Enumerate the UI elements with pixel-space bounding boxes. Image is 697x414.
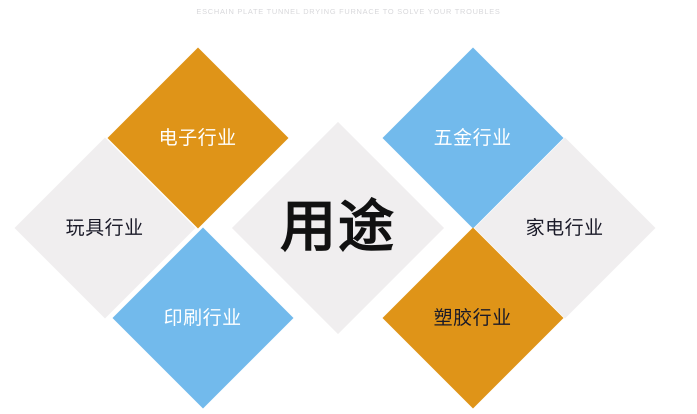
diamond-node-appliance-label: 家电行业	[526, 218, 604, 237]
slide-canvas: ESCHAIN PLATE TUNNEL DRYING FURNACE TO S…	[0, 0, 697, 414]
diamond-node-toys-label: 玩具行业	[66, 218, 144, 237]
diamond-node-plastic-label: 塑胶行业	[434, 308, 512, 327]
diamond-node-printing-label: 印刷行业	[164, 308, 242, 327]
diamond-node-electronics-label: 电子行业	[159, 128, 237, 147]
diamond-diagram: 玩具行业 电子行业 印刷行业 五金行业 塑胶行业 家电行业 用途	[0, 0, 697, 414]
diamond-center-label: 用途	[280, 200, 396, 256]
diamond-node-hardware-label: 五金行业	[434, 128, 512, 147]
